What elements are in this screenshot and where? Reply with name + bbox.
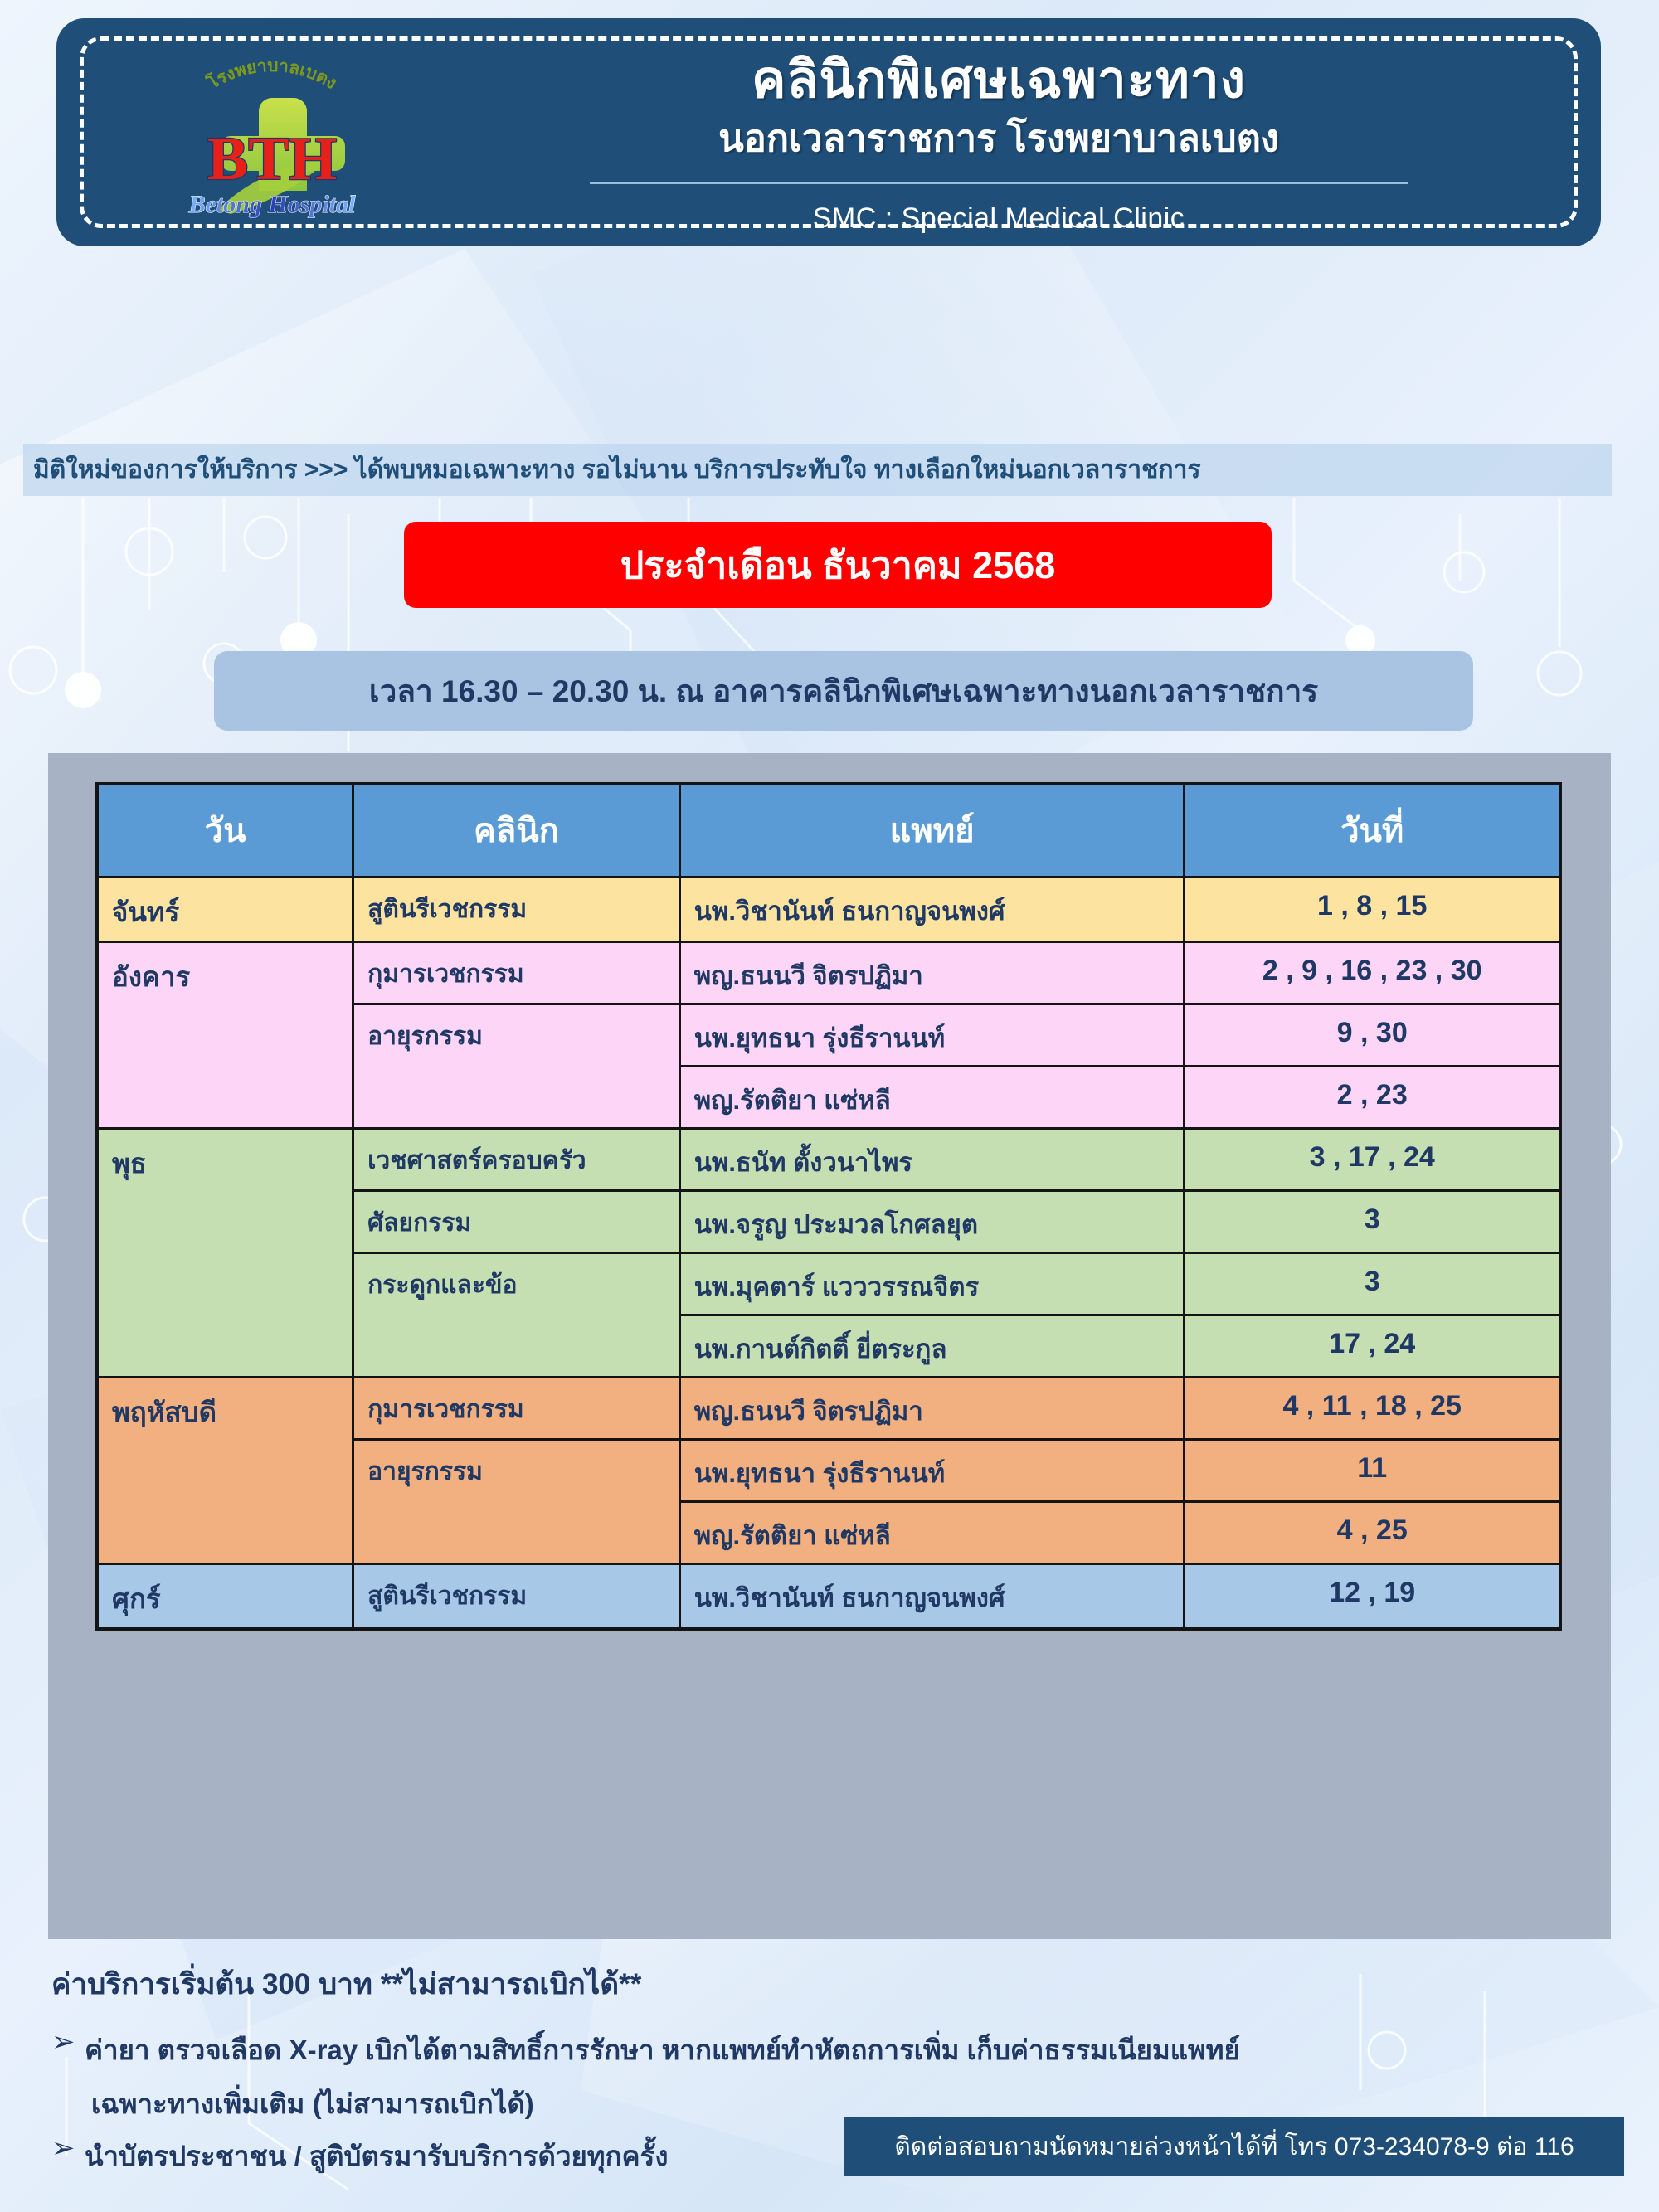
cell-day: พุธ [97, 1128, 353, 1377]
footer-bullet-2-text: นำบัตรประชาชน / สูติบัตรมารับบริการด้วยท… [85, 2134, 668, 2178]
page-title: คลินิกพิเศษเฉพาะทาง [446, 50, 1551, 110]
cell-clinic: เวชศาสตร์ครอบครัว [353, 1128, 680, 1190]
cell-dates: 11 [1185, 1439, 1560, 1501]
schedule-table-body: จันทร์สูตินรีเวชกรรมนพ.วิชานันท์ ธนกาญจน… [97, 877, 1560, 1629]
cell-dates: 9 , 30 [1185, 1004, 1560, 1066]
cell-dates: 3 , 17 , 24 [1185, 1128, 1560, 1190]
cell-clinic: ศัลยกรรม [353, 1190, 680, 1252]
month-badge: ประจำเดือน ธันวาคม 2568 [404, 522, 1272, 608]
footer-bullet-1: ➢ ค่ายา ตรวจเลือด X-ray เบิกได้ตามสิทธิ์… [51, 2028, 1240, 2072]
cell-dates: 3 [1185, 1190, 1560, 1252]
arrow-bullet-icon: ➢ [51, 2028, 85, 2056]
footer-bullet-1-text: ค่ายา ตรวจเลือด X-ray เบิกได้ตามสิทธิ์กา… [85, 2028, 1240, 2072]
cell-clinic: สูตินรีเวชกรรม [353, 877, 680, 941]
cell-dates: 4 , 11 , 18 , 25 [1185, 1377, 1560, 1439]
tagline-bar: มิติใหม่ของการให้บริการ >>> ได้พบหมอเฉพา… [23, 444, 1612, 496]
cell-clinic: อายุรกรรม [353, 1439, 680, 1563]
bth-logo-graphic: โรงพยาบาลเบตง BTH Betong Hospital [139, 55, 405, 221]
cell-doctor: นพ.มุคตาร์ แวววรรณจิตร [679, 1252, 1185, 1315]
table-row: อังคารกุมารเวชกรรมพญ.ธนนวี จิตรปฏิมา2 , … [97, 941, 1560, 1004]
cell-doctor: พญ.รัตติยา แซ่หลี [679, 1066, 1185, 1128]
cell-dates: 4 , 25 [1185, 1501, 1560, 1563]
column-header-day: วัน [97, 784, 353, 877]
cell-doctor: พญ.รัตติยา แซ่หลี [679, 1501, 1185, 1563]
header-banner: โรงพยาบาลเบตง BTH Betong Hospital คลินิก… [56, 18, 1601, 246]
cell-day: ศุกร์ [97, 1563, 353, 1629]
service-fee-note: ค่าบริการเริ่มต้น 300 บาท **ไม่สามารถเบิ… [51, 1962, 641, 2007]
table-row: พฤหัสบดีกุมารเวชกรรมพญ.ธนนวี จิตรปฏิมา4 … [97, 1377, 1560, 1439]
footer-bullet-2: ➢ นำบัตรประชาชน / สูติบัตรมารับบริการด้ว… [51, 2134, 668, 2178]
cell-doctor: นพ.จรูญ ประมวลโกศลยุต [679, 1190, 1185, 1252]
column-header-date: วันที่ [1185, 784, 1560, 877]
logo-arc-text: โรงพยาบาลเบตง [202, 56, 339, 94]
logo-initials: BTH [207, 125, 337, 193]
time-location-bar: เวลา 16.30 – 20.30 น. ณ อาคารคลินิกพิเศษ… [214, 651, 1473, 731]
table-row: จันทร์สูตินรีเวชกรรมนพ.วิชานันท์ ธนกาญจน… [97, 877, 1560, 941]
contact-phone-text: ติดต่อสอบถามนัดหมายล่วงหน้าได้ที่ โทร 07… [894, 2127, 1574, 2166]
table-row: พุธเวชศาสตร์ครอบครัวนพ.ธนัท ตั้งวนาไพร3 … [97, 1128, 1560, 1190]
column-header-clinic: คลินิก [353, 784, 680, 877]
cell-dates: 3 [1185, 1252, 1560, 1315]
cell-dates: 17 , 24 [1185, 1315, 1560, 1377]
title-divider [590, 182, 1408, 184]
banner-text-block: คลินิกพิเศษเฉพาะทาง นอกเวลาราชการ โรงพยา… [446, 50, 1551, 235]
cell-doctor: นพ.ธนัท ตั้งวนาไพร [679, 1128, 1185, 1190]
cell-clinic: อายุรกรรม [353, 1004, 680, 1128]
page-title-english: SMC : Special Medical Clinic [446, 202, 1551, 235]
svg-text:โรงพยาบาลเบตง: โรงพยาบาลเบตง [202, 56, 339, 94]
cell-clinic: กระดูกและข้อ [353, 1252, 680, 1377]
cell-dates: 2 , 23 [1185, 1066, 1560, 1128]
cell-dates: 1 , 8 , 15 [1185, 877, 1560, 941]
cell-doctor: พญ.ธนนวี จิตรปฏิมา [679, 941, 1185, 1004]
schedule-panel: วัน คลินิก แพทย์ วันที่ จันทร์สูตินรีเวช… [48, 753, 1611, 1939]
contact-badge[interactable]: ติดต่อสอบถามนัดหมายล่วงหน้าได้ที่ โทร 07… [844, 2117, 1624, 2176]
cell-doctor: นพ.ยุทธนา รุ่งธีรานนท์ [679, 1004, 1185, 1066]
schedule-table: วัน คลินิก แพทย์ วันที่ จันทร์สูตินรีเวช… [95, 782, 1562, 1631]
cell-doctor: นพ.ยุทธนา รุ่งธีรานนท์ [679, 1439, 1185, 1501]
table-header-row: วัน คลินิก แพทย์ วันที่ [97, 784, 1560, 877]
tagline-text: มิติใหม่ของการให้บริการ >>> ได้พบหมอเฉพา… [23, 450, 1201, 489]
page-subtitle: นอกเวลาราชการ โรงพยาบาลเบตง [446, 114, 1551, 164]
month-badge-text: ประจำเดือน ธันวาคม 2568 [620, 535, 1056, 595]
table-row: ศุกร์สูตินรีเวชกรรมนพ.วิชานันท์ ธนกาญจนพ… [97, 1563, 1560, 1629]
cell-clinic: กุมารเวชกรรม [353, 941, 680, 1004]
cell-dates: 12 , 19 [1185, 1563, 1560, 1629]
logo-script-text: Betong Hospital [188, 191, 357, 218]
cell-clinic: กุมารเวชกรรม [353, 1377, 680, 1439]
cell-doctor: นพ.กานต์กิตติ์ ยี่ตระกูล [679, 1315, 1185, 1377]
cell-doctor: พญ.ธนนวี จิตรปฏิมา [679, 1377, 1185, 1439]
column-header-doctor: แพทย์ [679, 784, 1185, 877]
time-location-text: เวลา 16.30 – 20.30 น. ณ อาคารคลินิกพิเศษ… [369, 667, 1318, 716]
cell-clinic: สูตินรีเวชกรรม [353, 1563, 680, 1629]
cell-dates: 2 , 9 , 16 , 23 , 30 [1185, 941, 1560, 1004]
cell-day: พฤหัสบดี [97, 1377, 353, 1563]
arrow-bullet-icon: ➢ [51, 2134, 85, 2162]
cell-day: อังคาร [97, 941, 353, 1128]
hospital-logo: โรงพยาบาลเบตง BTH Betong Hospital [139, 55, 405, 221]
cell-doctor: นพ.วิชานันท์ ธนกาญจนพงศ์ [679, 877, 1185, 941]
cell-doctor: นพ.วิชานันท์ ธนกาญจนพงศ์ [679, 1563, 1185, 1629]
footer-bullet-1-continuation: เฉพาะทางเพิ่มเติม (ไม่สามารถเบิกได้) [91, 2082, 534, 2126]
cell-day: จันทร์ [97, 877, 353, 941]
